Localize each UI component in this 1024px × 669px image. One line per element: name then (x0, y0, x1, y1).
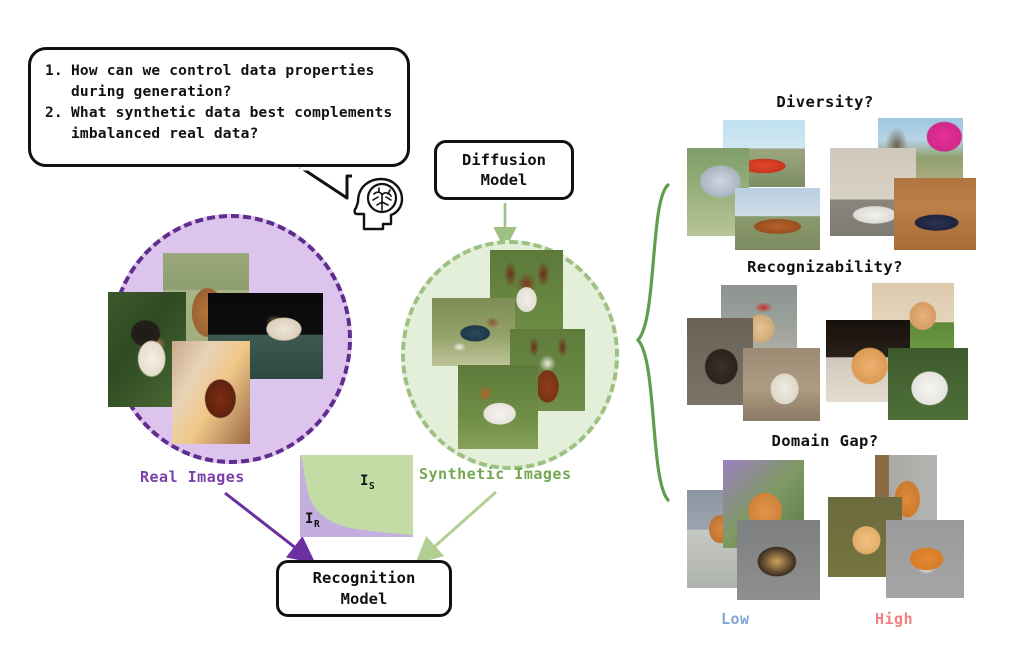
list-item-number: 2. (45, 103, 71, 144)
axis-label-low: Low (721, 610, 750, 628)
plot-label-real: I (305, 511, 313, 527)
thumb-dark-blue-sportscar-desert (894, 178, 976, 250)
recognition-model-box[interactable]: Recognition Model (276, 560, 452, 617)
diffusion-model-label: Diffusion Model (462, 150, 546, 190)
brain-head-icon (348, 172, 410, 234)
speech-bubble-tail (300, 167, 352, 198)
list-item: 2. What synthetic data best complements … (45, 103, 397, 144)
figure-canvas: 1. How can we control data properties du… (0, 0, 1024, 669)
recognition-model-label: Recognition Model (313, 568, 416, 610)
diffusion-model-box[interactable]: Diffusion Model (434, 140, 574, 200)
heading-domain-gap: Domain Gap? (655, 432, 995, 450)
plot-label-real-sub: R (314, 519, 320, 530)
thumb-real-dog-red-puppy-blanket (172, 341, 250, 444)
thumb-shiba-lying-photo (737, 520, 820, 600)
synthetic-images-label: Synthetic Images (419, 465, 572, 483)
real-vs-synthetic-distribution-plot: I S I R (300, 455, 413, 537)
plot-label-synthetic: I (360, 473, 368, 489)
thumb-shiba-cartoon-side-grey (886, 520, 964, 598)
heading-recognizability: Recognizability? (655, 258, 995, 276)
research-questions-bubble: 1. How can we control data properties du… (28, 47, 410, 167)
plot-label-synthetic-sub: S (369, 481, 375, 492)
arrow-synthetic-to-recognition (424, 492, 496, 556)
list-item: 1. How can we control data properties du… (45, 61, 397, 102)
thumb-synthetic-dog-lying-white (458, 365, 538, 449)
list-item-text: How can we control data properties durin… (71, 61, 397, 102)
thumb-orange-station-wagon (735, 188, 820, 250)
thumb-white-pomeranian-smiling (888, 348, 968, 420)
list-item-number: 1. (45, 61, 71, 102)
real-images-label: Real Images (140, 468, 245, 486)
thumb-synthetic-dog-running-side (432, 298, 515, 366)
green-brace (638, 185, 668, 500)
arrow-real-to-recognition (225, 493, 306, 556)
research-questions-list: 1. How can we control data properties du… (31, 50, 407, 144)
axis-label-high: High (875, 610, 913, 628)
list-item-text: What synthetic data best complements imb… (71, 103, 397, 144)
heading-diversity: Diversity? (655, 93, 995, 111)
thumb-cream-pomeranian-standing (743, 348, 820, 421)
